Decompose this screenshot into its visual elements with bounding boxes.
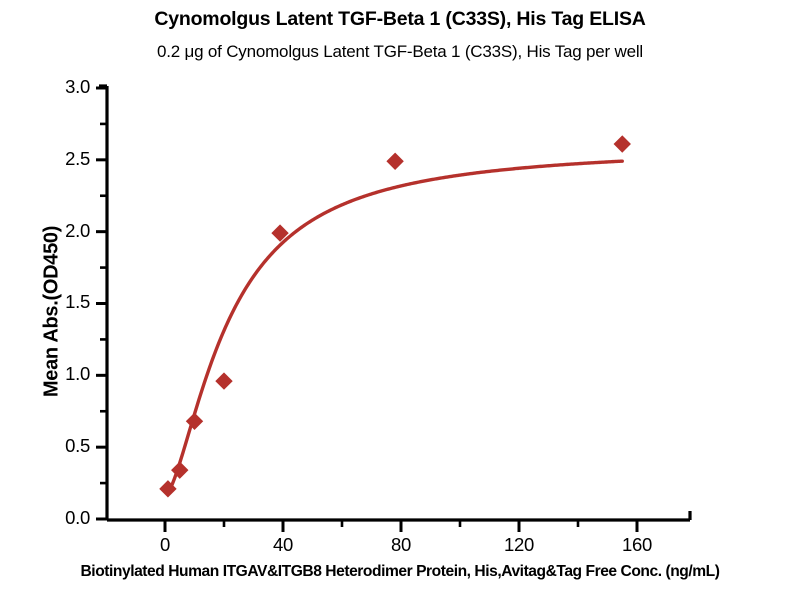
data-series: [160, 136, 630, 497]
y-tick-label: 1.0: [38, 363, 90, 385]
plot-area: [0, 0, 800, 600]
x-tick-label: 160: [607, 534, 667, 556]
y-tick-label: 2.0: [38, 220, 90, 242]
data-point-marker: [387, 153, 403, 169]
y-tick-label: 3.0: [38, 76, 90, 98]
fit-curve: [168, 161, 622, 493]
x-tick-label: 120: [489, 534, 549, 556]
y-tick-label: 0.5: [38, 435, 90, 457]
chart-root: Cynomolgus Latent TGF-Beta 1 (C33S), His…: [0, 0, 800, 600]
y-tick-label: 2.5: [38, 148, 90, 170]
y-tick-label: 1.5: [38, 291, 90, 313]
data-point-marker: [216, 373, 232, 389]
x-tick-label: 40: [253, 534, 313, 556]
x-tick-label: 80: [371, 534, 431, 556]
data-point-marker: [614, 136, 630, 152]
x-tick-label: 0: [135, 534, 195, 556]
axes: [96, 86, 690, 532]
y-tick-label: 0.0: [38, 507, 90, 529]
